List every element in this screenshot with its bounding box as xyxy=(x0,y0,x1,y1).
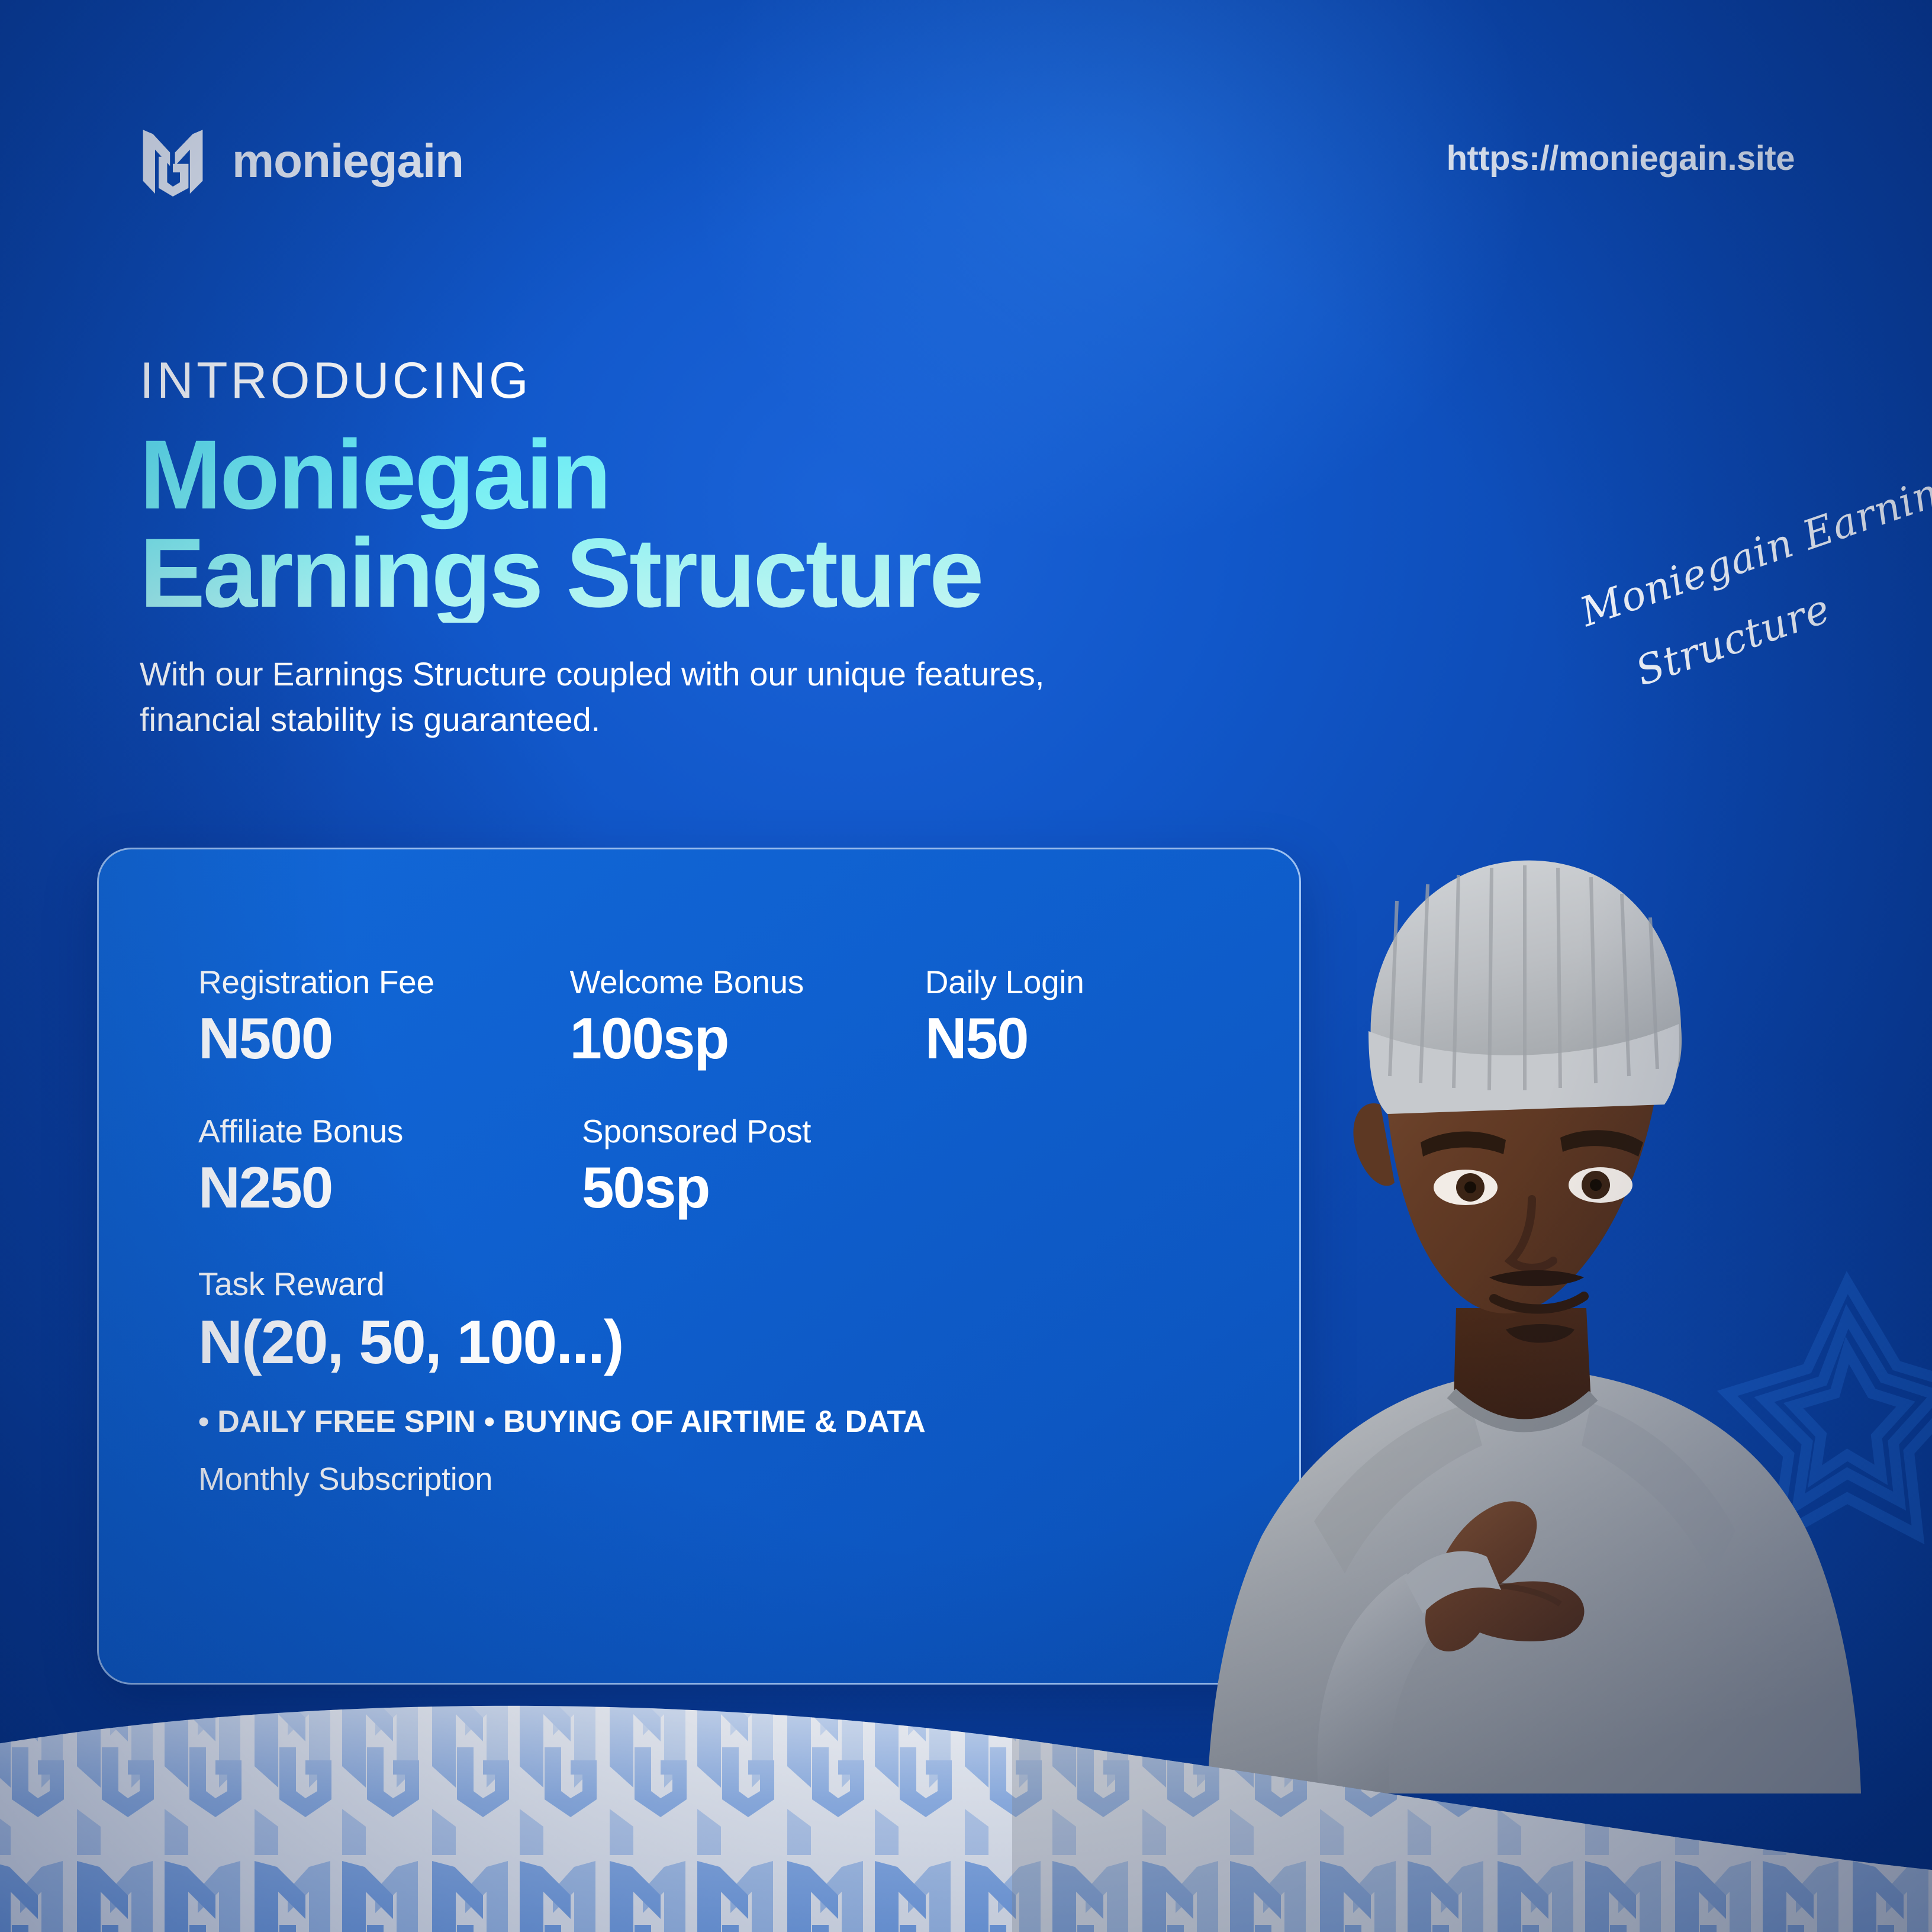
mg-monogram-pattern-band xyxy=(0,1677,1932,1932)
stat-value: N50 xyxy=(925,1005,1246,1073)
subcopy: With our Earnings Structure coupled with… xyxy=(140,651,1063,743)
stat-label: Affiliate Bonus xyxy=(198,1113,582,1149)
handwritten-script-mark: Moniegain Earnings Structure xyxy=(1574,469,1932,827)
perks-line: • DAILY FREE SPIN • BUYING OF AIRTIME & … xyxy=(198,1404,1246,1440)
background-glow-bottom-right xyxy=(1213,1036,1932,1894)
brand-name: moniegain xyxy=(232,137,463,185)
brand-lockup[interactable]: moniegain xyxy=(137,125,463,197)
earnings-card: Registration Fee N500 Welcome Bonus 100s… xyxy=(97,848,1301,1685)
stat-task-reward: Task Reward N(20, 50, 100...) xyxy=(198,1266,909,1378)
stat-registration-fee: Registration Fee N500 xyxy=(198,964,569,1072)
script-line-1: Moniegain Earnings xyxy=(1574,469,1932,636)
stat-value: 50sp xyxy=(582,1154,949,1222)
poster-header: moniegain https://moniegain.site xyxy=(0,125,1932,197)
poster-canvas: moniegain https://moniegain.site INTRODU… xyxy=(0,0,1932,1932)
perks-subline: Monthly Subscription xyxy=(198,1461,1246,1498)
headline: Moniegain Earnings Structure xyxy=(140,426,1442,623)
hero-block: INTRODUCING Moniegain Earnings Structure… xyxy=(140,355,1442,743)
earnings-row: Affiliate Bonus N250 Sponsored Post 50sp xyxy=(198,1113,1246,1221)
stat-sponsored-post: Sponsored Post 50sp xyxy=(582,1113,949,1221)
headline-line-1: Moniegain xyxy=(140,426,1442,524)
stat-label: Registration Fee xyxy=(198,964,569,1000)
stat-value: 100sp xyxy=(569,1005,925,1073)
stat-daily-login: Daily Login N50 xyxy=(925,964,1246,1072)
stat-label: Daily Login xyxy=(925,964,1246,1000)
stat-label: Sponsored Post xyxy=(582,1113,949,1149)
site-url[interactable]: https://moniegain.site xyxy=(1447,139,1795,178)
stat-affiliate-bonus: Affiliate Bonus N250 xyxy=(198,1113,582,1221)
stat-label: Welcome Bonus xyxy=(569,964,925,1000)
moniegain-monogram-icon xyxy=(137,125,208,197)
stat-value: N250 xyxy=(198,1154,582,1222)
angular-star-watermark-icon xyxy=(1666,1255,1932,1563)
stat-label: Task Reward xyxy=(198,1266,909,1302)
stat-welcome-bonus: Welcome Bonus 100sp xyxy=(569,964,925,1072)
eyebrow-label: INTRODUCING xyxy=(140,355,1442,406)
earnings-card-content: Registration Fee N500 Welcome Bonus 100s… xyxy=(198,964,1246,1498)
earnings-row: Task Reward N(20, 50, 100...) xyxy=(198,1266,1246,1378)
script-line-2: Structure xyxy=(1630,539,1932,695)
stat-value: N500 xyxy=(198,1005,569,1073)
earnings-row: Registration Fee N500 Welcome Bonus 100s… xyxy=(198,964,1246,1072)
headline-line-2: Earnings Structure xyxy=(140,524,1442,623)
stat-value: N(20, 50, 100...) xyxy=(198,1307,909,1379)
